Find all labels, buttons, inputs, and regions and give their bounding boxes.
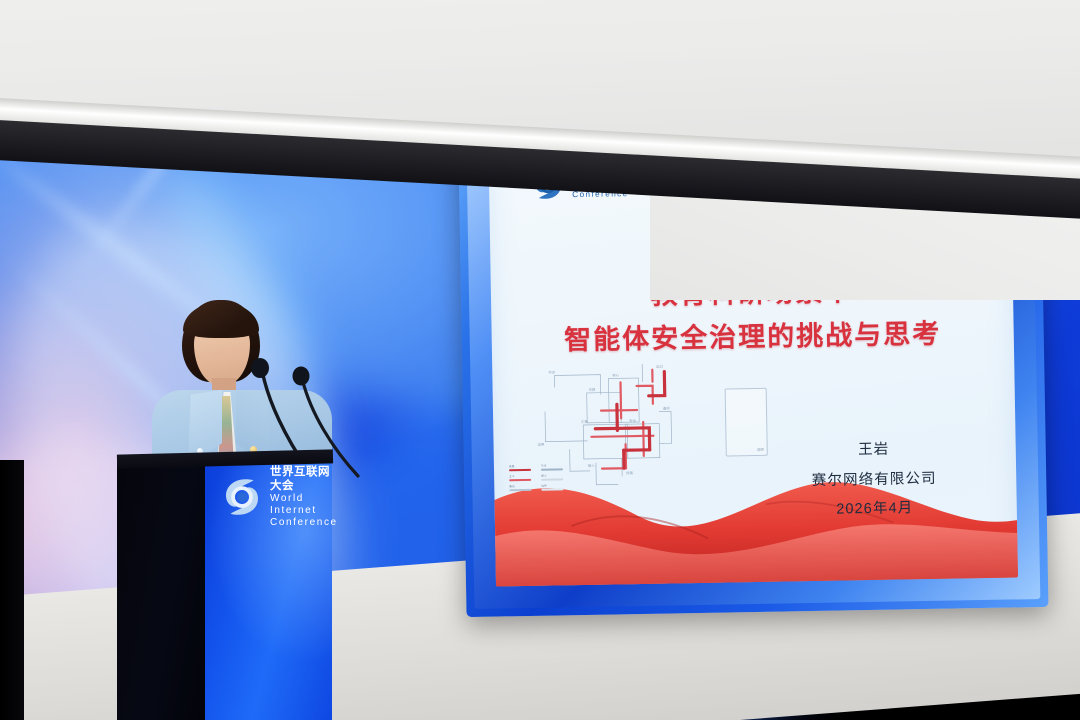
svg-text:备份: 备份	[663, 405, 670, 410]
legend-swatch	[509, 489, 531, 491]
legend-item: 边界	[541, 483, 563, 490]
legend-label: 备份	[509, 484, 531, 488]
legend-swatch	[509, 479, 531, 481]
svg-text:节点: 节点	[548, 369, 555, 374]
presenter-name: 王岩	[771, 434, 975, 467]
slide-byline: 王岩 赛尔网络有限公司 2026年4月	[771, 434, 977, 527]
svg-text:边界: 边界	[538, 442, 545, 447]
legend-swatch	[541, 488, 563, 490]
legend-item: 节点	[541, 463, 563, 470]
legend-label: 链路	[509, 464, 531, 468]
legend-label: 主干	[509, 474, 531, 478]
legend-item: 接入	[541, 473, 563, 480]
podium: 世界互联网大会 World Internet Conference	[117, 452, 332, 720]
podium-dark-panel	[117, 458, 205, 720]
podium-wic-logo: 世界互联网大会 World Internet Conference	[221, 466, 338, 529]
svg-text:出口: 出口	[656, 364, 663, 369]
svg-text:接入: 接入	[588, 463, 595, 468]
legend-swatch	[509, 469, 531, 471]
presenter-organization: 赛尔网络有限公司	[772, 464, 976, 497]
diagram-sidebox: 说明	[725, 388, 768, 457]
svg-text:安全: 安全	[629, 418, 636, 423]
legend-item: 主干	[509, 474, 531, 481]
legend-label: 节点	[541, 463, 563, 467]
speaker-hair-front	[183, 302, 259, 338]
legend-label: 边界	[541, 483, 563, 487]
svg-text:终端: 终端	[626, 470, 633, 475]
podium-wic-text: 世界互联网大会 World Internet Conference	[270, 466, 338, 529]
diagram-sidebox-caption: 说明	[757, 448, 764, 453]
podium-logo-en2: Conference	[270, 517, 338, 529]
legend-item: 链路	[509, 464, 531, 471]
conference-stage-photo: 世界互联网大会 World Internet Conference	[0, 0, 1080, 720]
podium-logo-en1: World Internet	[270, 493, 338, 517]
legend-label: 接入	[541, 473, 563, 477]
podium-logo-cn: 世界互联网大会	[270, 466, 338, 493]
legend-swatch	[541, 478, 563, 480]
left-dark-edge	[0, 460, 24, 720]
svg-text:交换: 交换	[589, 387, 596, 392]
wic-globe-icon	[221, 475, 263, 519]
svg-text:核心: 核心	[612, 372, 619, 377]
svg-text:汇聚: 汇聚	[581, 419, 588, 424]
presentation-date: 2026年4月	[773, 494, 977, 527]
diagram-legend: 链路 主干 备份 节点	[509, 463, 571, 491]
legend-item: 备份	[509, 484, 531, 491]
legend-swatch	[541, 468, 563, 470]
